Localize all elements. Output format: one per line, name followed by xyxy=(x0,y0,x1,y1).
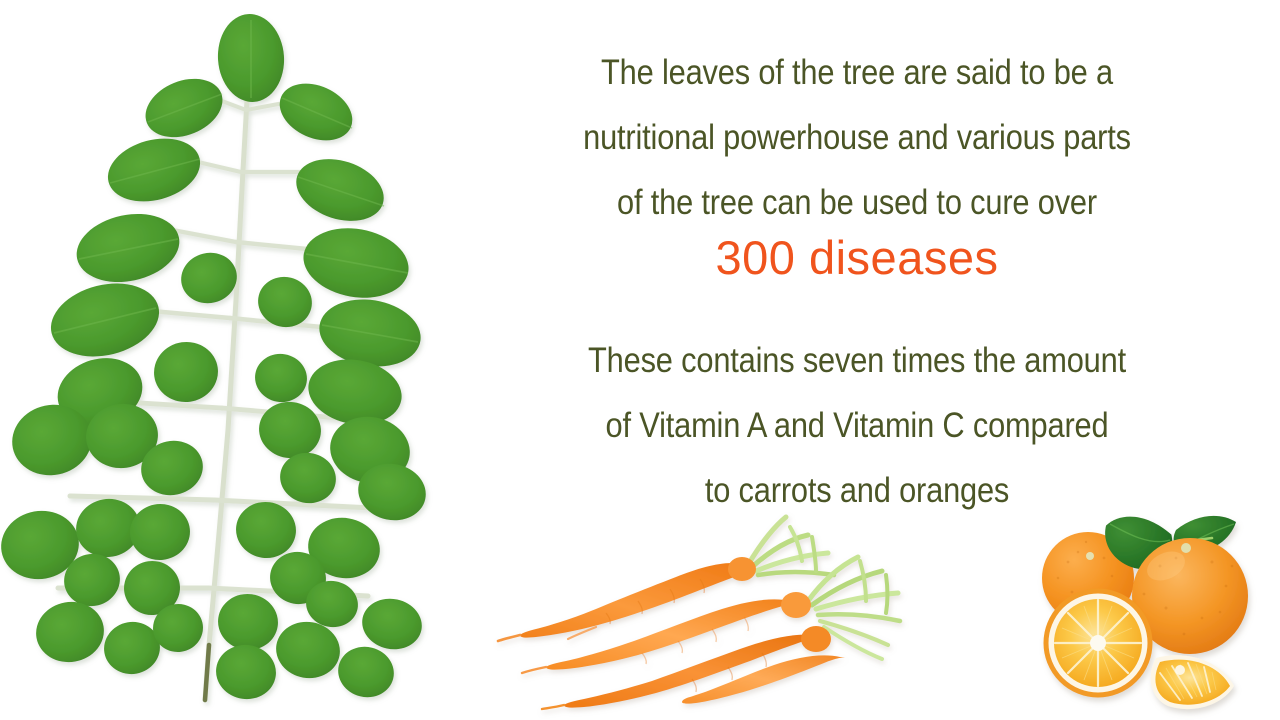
carrot-bunch-image xyxy=(490,505,910,720)
text-content-panel: The leaves of the tree are said to be a … xyxy=(462,0,1252,540)
paragraph-one-line-2: nutritional powerhouse and various parts xyxy=(509,105,1204,170)
paragraph-two: These contains seven times the amount of… xyxy=(462,328,1252,523)
orange-fruit-image xyxy=(1020,500,1280,720)
paragraph-one-line-1: The leaves of the tree are said to be a xyxy=(509,40,1204,105)
paragraph-one: The leaves of the tree are said to be a … xyxy=(462,40,1252,235)
moringa-leaf-image xyxy=(0,0,470,720)
disease-count-highlight: 300 diseases xyxy=(716,230,999,286)
paragraph-two-line-1: These contains seven times the amount xyxy=(509,328,1204,393)
infographic-canvas: The leaves of the tree are said to be a … xyxy=(0,0,1280,720)
highlight-statement: 300 diseases xyxy=(462,230,1252,286)
paragraph-one-line-3: of the tree can be used to cure over xyxy=(509,170,1204,235)
paragraph-two-line-2: of Vitamin A and Vitamin C compared xyxy=(509,393,1204,458)
